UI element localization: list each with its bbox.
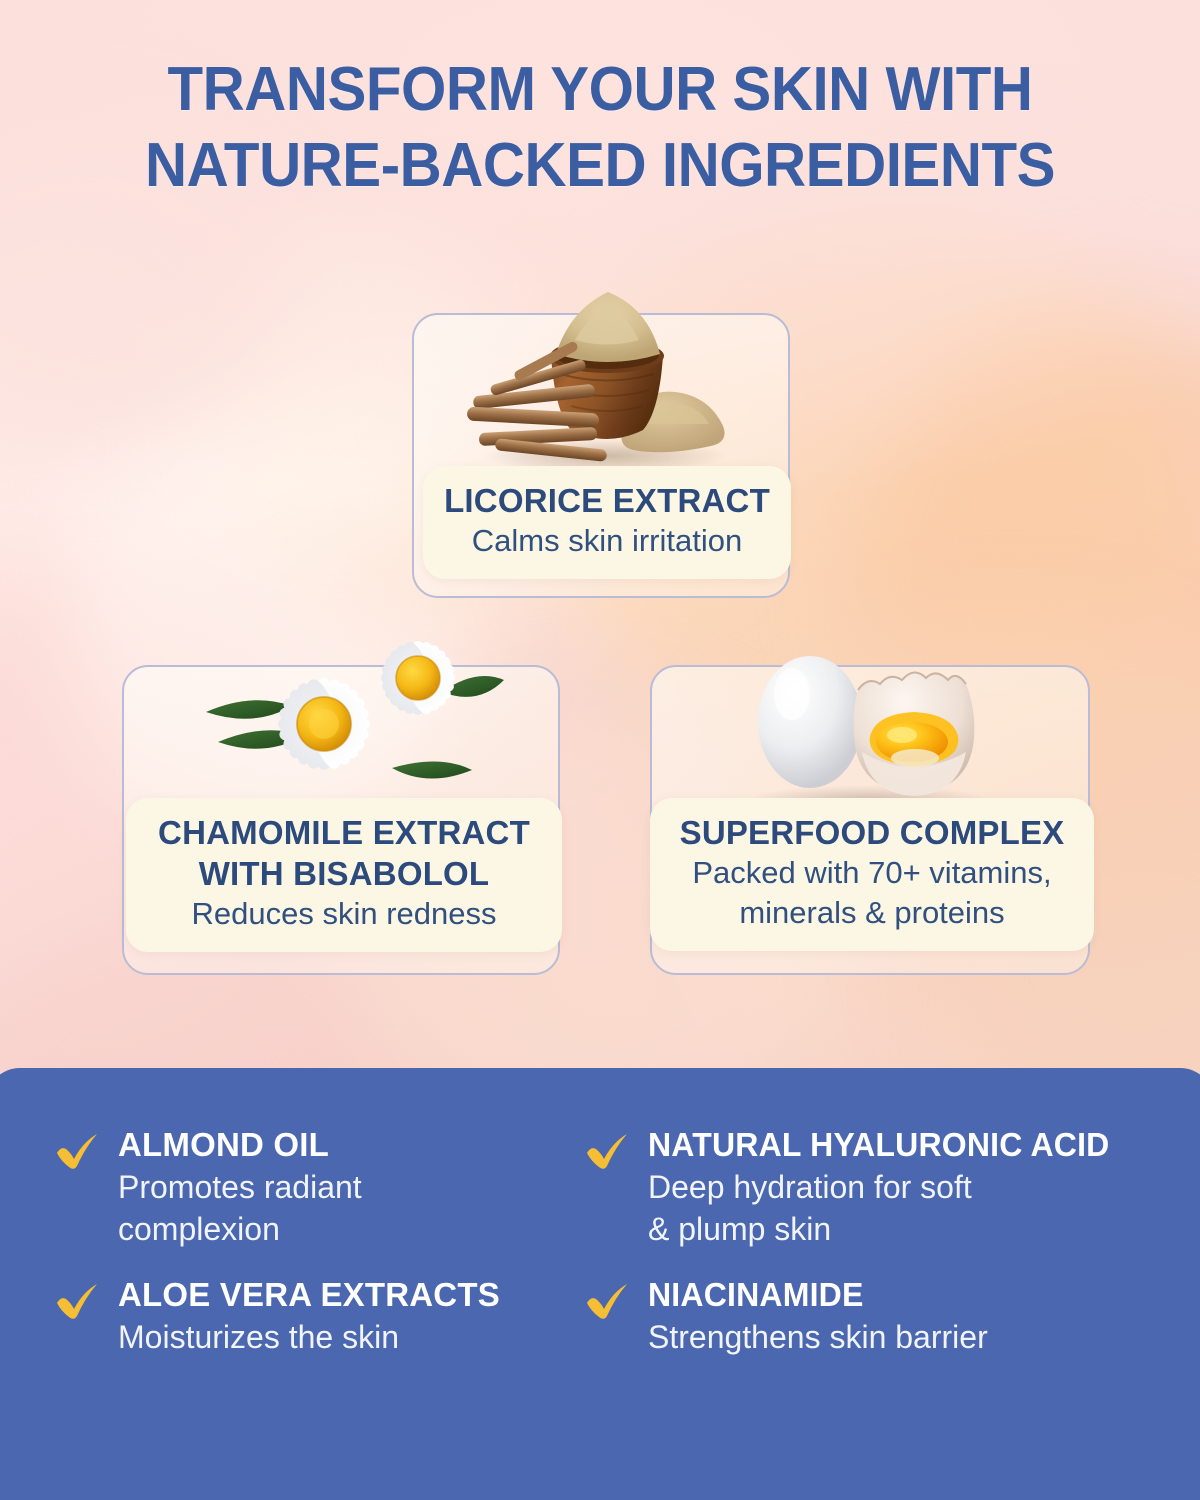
benefit-desc-line-1: Strengthens skin barrier xyxy=(648,1316,988,1358)
ingredient-label-superfood: SUPERFOOD COMPLEX Packed with 70+ vitami… xyxy=(650,798,1094,951)
benefit-desc-line-2: & plump skin xyxy=(648,1208,1124,1250)
benefit-title: NIACINAMIDE xyxy=(648,1274,978,1316)
ingredient-infographic-poster: TRANSFORM YOUR SKIN WITH NATURE-BACKED I… xyxy=(0,0,1200,1500)
benefit-desc-line-1: Moisturizes the skin xyxy=(118,1316,500,1358)
benefit-desc-line-1: Promotes radiant xyxy=(118,1166,362,1208)
ingredient-subtitle-line-2: minerals & proteins xyxy=(660,893,1084,933)
benefit-item-hyaluronic-acid: NATURAL HYALURONIC ACID Deep hydration f… xyxy=(584,1124,1194,1250)
benefit-text: NIACINAMIDE Strengthens skin barrier xyxy=(648,1274,988,1358)
page-title: TRANSFORM YOUR SKIN WITH NATURE-BACKED I… xyxy=(36,52,1164,204)
benefits-grid: ALMOND OIL Promotes radiant complexion N… xyxy=(0,1124,1200,1358)
benefit-title: ALOE VERA EXTRACTS xyxy=(118,1274,500,1316)
ingredient-subtitle: Calms skin irritation xyxy=(433,521,781,561)
page-title-line-1: TRANSFORM YOUR SKIN WITH xyxy=(36,52,1164,128)
ingredient-title: SUPERFOOD COMPLEX xyxy=(660,812,1084,853)
ingredient-title-line-2: WITH BISABOLOL xyxy=(136,853,552,894)
chamomile-daisy-flowers-photo xyxy=(196,600,516,815)
benefit-item-almond-oil: ALMOND OIL Promotes radiant complexion xyxy=(54,1124,574,1250)
checkmark-icon xyxy=(54,1128,100,1174)
benefit-title: ALMOND OIL xyxy=(118,1124,362,1166)
page-title-line-2: NATURE-BACKED INGREDIENTS xyxy=(36,128,1164,204)
ingredient-title: LICORICE EXTRACT xyxy=(433,480,781,521)
ingredient-subtitle-line-1: Packed with 70+ vitamins, xyxy=(660,853,1084,893)
ingredient-label-chamomile: CHAMOMILE EXTRACT WITH BISABOLOL Reduces… xyxy=(126,798,562,952)
benefits-panel: ALMOND OIL Promotes radiant complexion N… xyxy=(0,1068,1200,1500)
benefit-text: NATURAL HYALURONIC ACID Deep hydration f… xyxy=(648,1124,1124,1250)
benefit-text: ALOE VERA EXTRACTS Moisturizes the skin xyxy=(118,1274,500,1358)
checkmark-icon xyxy=(584,1278,630,1324)
checkmark-icon xyxy=(584,1128,630,1174)
licorice-root-bowl-photo xyxy=(455,278,755,483)
ingredient-subtitle: Reduces skin redness xyxy=(136,894,552,934)
benefit-desc-line-1: Deep hydration for soft xyxy=(648,1166,1124,1208)
benefit-item-niacinamide: NIACINAMIDE Strengthens skin barrier xyxy=(584,1274,1194,1358)
benefit-item-aloe-vera: ALOE VERA EXTRACTS Moisturizes the skin xyxy=(54,1274,574,1358)
ingredient-label-licorice: LICORICE EXTRACT Calms skin irritation xyxy=(423,466,791,579)
ingredient-title-line-1: CHAMOMILE EXTRACT xyxy=(136,812,552,853)
benefit-title: NATURAL HYALURONIC ACID xyxy=(648,1124,1110,1166)
checkmark-icon xyxy=(54,1278,100,1324)
benefit-text: ALMOND OIL Promotes radiant complexion xyxy=(118,1124,362,1250)
benefit-desc-line-2: complexion xyxy=(118,1208,362,1250)
